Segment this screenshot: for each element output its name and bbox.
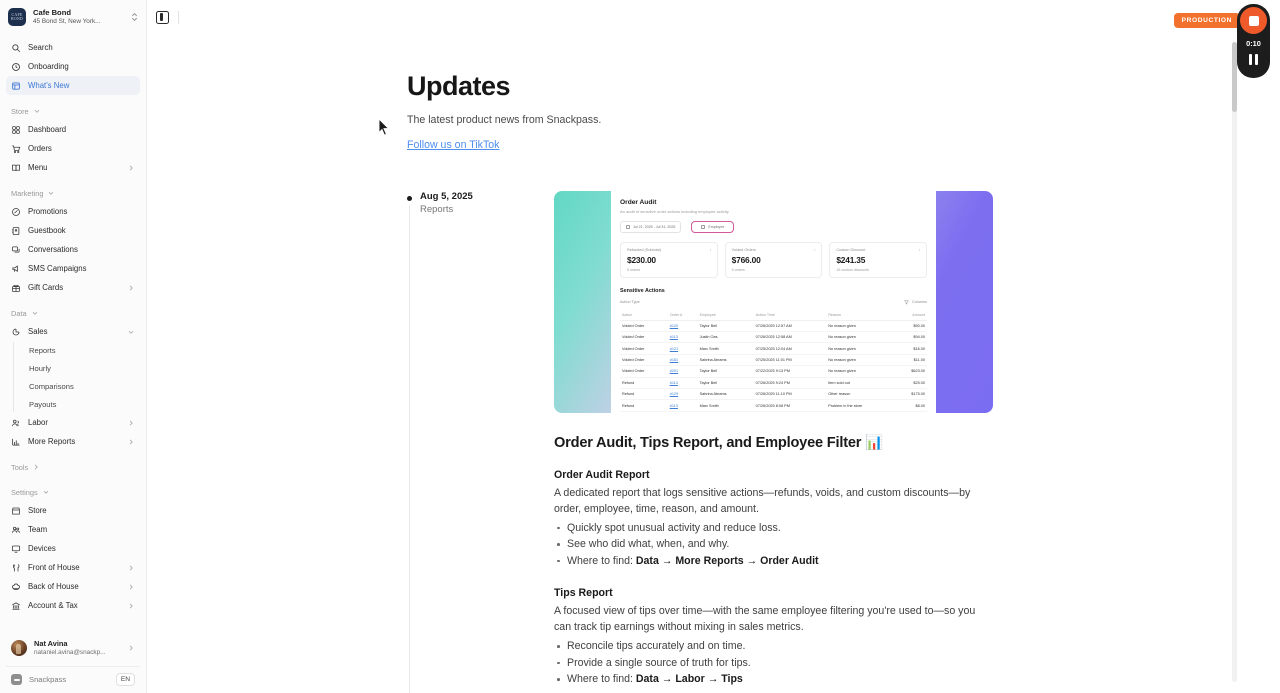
table-cell: Refund xyxy=(620,388,668,399)
store-switcher[interactable]: CAFE BOND Cafe Bond 45 Bond St, New York… xyxy=(0,0,146,34)
store-address: 45 Bond St, New York... xyxy=(33,18,123,26)
stop-record-icon[interactable] xyxy=(1240,7,1267,34)
stat-value: $230.00 xyxy=(627,255,711,265)
brand-row: Snackpass EN xyxy=(6,666,140,686)
list-item: Where to find: Data → Labor → Tips xyxy=(554,671,994,687)
sidebar-item-label: Sales xyxy=(28,327,120,336)
chevron-down-icon xyxy=(47,189,55,197)
table-row: Refund#113Marc Smith07/26/2025 8:08 PMPr… xyxy=(620,400,927,411)
table-cell: $94.00 xyxy=(895,332,927,343)
sidebar-item-label: Orders xyxy=(28,144,135,153)
table-cell: Refund xyxy=(620,377,668,388)
sidebar-item-menu[interactable]: Menu xyxy=(6,158,140,177)
entry-date: Aug 5, 2025 xyxy=(420,191,554,203)
table-cell: Refund xyxy=(620,411,668,413)
table-cell: Other reason xyxy=(826,388,895,399)
sidebar-subitem-label: Payouts xyxy=(29,400,56,409)
stat-card: Voided Orders i $766.00 5 orders xyxy=(725,242,823,278)
sidebar-item-label: Store xyxy=(28,506,135,515)
employee-filter: Employee xyxy=(691,221,734,233)
table-cell: $25.00 xyxy=(895,377,927,388)
table-cell: Voided Order xyxy=(620,354,668,365)
table-cell: Item sold out xyxy=(826,377,895,388)
filter-icon xyxy=(904,300,909,305)
sidebar: CAFE BOND Cafe Bond 45 Bond St, New York… xyxy=(0,0,147,693)
chevron-down-icon xyxy=(42,488,50,496)
section-paragraph: A dedicated report that logs sensitive a… xyxy=(554,485,994,517)
recording-elapsed: 0:10 xyxy=(1246,39,1261,48)
chevron-right-icon xyxy=(127,564,135,572)
section-heading: Order Audit Report xyxy=(554,469,994,481)
sidebar-item-dashboard[interactable]: Dashboard xyxy=(6,120,140,139)
stat-label: Voided Orders xyxy=(732,248,756,252)
sidebar-item-onboarding[interactable]: Onboarding xyxy=(6,57,140,76)
main-area: Updates The latest product news from Sna… xyxy=(147,0,1280,693)
chevron-right-icon xyxy=(127,284,135,292)
sidebar-item-devices[interactable]: Devices xyxy=(6,539,140,558)
chevron-up-down-icon xyxy=(130,11,139,23)
stat-note: 5 orders xyxy=(627,268,711,272)
user-name: Nat Avina xyxy=(34,639,120,649)
section-bullets: Reconcile tips accurately and on time. P… xyxy=(554,638,994,687)
table-cell: Sabrina Abrams xyxy=(698,354,754,365)
bullet-text: Provide a single source of truth for tip… xyxy=(567,657,751,669)
table-cell: Taylor Bell xyxy=(698,320,754,331)
table-row: Voided Order#120Taylor Bell07/26/2025 12… xyxy=(620,320,927,331)
section-bullets: Quickly spot unusual activity and reduce… xyxy=(554,520,994,569)
sidebar-group-marketing[interactable]: Marketing xyxy=(6,184,140,202)
sidebar-item-conversations[interactable]: Conversations xyxy=(6,240,140,259)
sidebar-nav: Search Onboarding What's New Store xyxy=(0,34,146,628)
book-icon xyxy=(11,163,21,173)
sidebar-item-more-reports[interactable]: More Reports xyxy=(6,432,140,451)
table-cell: Voided Order xyxy=(620,343,668,354)
info-icon: i xyxy=(710,248,711,252)
page-title: Updates xyxy=(407,72,1225,102)
bullet-text: Quickly spot unusual activity and reduce… xyxy=(567,522,781,534)
embedded-screenshot: Order Audit An audit of sensitive order … xyxy=(611,191,936,413)
sidebar-group-settings[interactable]: Settings xyxy=(6,483,140,501)
sidebar-item-store-settings[interactable]: Store xyxy=(6,501,140,520)
cutlery-icon xyxy=(11,563,21,573)
chevron-right-icon xyxy=(127,419,135,427)
report-filters: Jul 21, 2025 - Jul 31, 2025 Employee xyxy=(620,221,927,233)
sidebar-subitem-label: Reports xyxy=(29,346,56,355)
sidebar-item-label: Promotions xyxy=(28,207,135,216)
stat-label: Custom Discount xyxy=(836,248,865,252)
sidebar-item-guestbook[interactable]: Guestbook xyxy=(6,221,140,240)
table-cell: #113 xyxy=(668,332,698,343)
bullet-text: Where to find: xyxy=(567,555,636,567)
table-cell: 07/25/2025 11:01 PM xyxy=(754,354,827,365)
table-row: Voided Order#113Justin Oas07/26/2025 12:… xyxy=(620,332,927,343)
table-cell: Voided Order xyxy=(620,332,668,343)
sidebar-item-label: Dashboard xyxy=(28,125,135,134)
info-icon: i xyxy=(815,248,816,252)
table-column-header: Employee xyxy=(698,310,754,321)
stat-note: 15 custom discounts xyxy=(836,268,920,272)
people-icon xyxy=(11,418,21,428)
columns-button-label: Columns xyxy=(912,300,927,304)
table-cell: Sabrina Abrams xyxy=(698,388,754,399)
avatar xyxy=(11,640,27,656)
grid-icon xyxy=(11,125,21,135)
columns-button: Columns xyxy=(904,300,927,305)
sidebar-item-label: Onboarding xyxy=(28,62,135,71)
chevron-right-icon xyxy=(127,164,135,172)
mouse-cursor xyxy=(378,118,391,137)
store-name: Cafe Bond xyxy=(33,8,123,17)
sidebar-group-title: Tools xyxy=(11,463,28,472)
entry-meta: Aug 5, 2025 Reports xyxy=(407,191,554,693)
table-cell: $175.00 xyxy=(895,388,927,399)
article-title: Order Audit, Tips Report, and Employee F… xyxy=(554,433,994,451)
sidebar-item-promotions[interactable]: Promotions xyxy=(6,202,140,221)
bank-icon xyxy=(11,601,21,611)
table-cell: Voided Order xyxy=(620,320,668,331)
table-row: Refund#114Taylor Bell07/26/2025 9:24 PMI… xyxy=(620,377,927,388)
sidebar-item-label: Search xyxy=(28,43,135,52)
list-item: Reconcile tips accurately and on time. xyxy=(554,638,994,654)
sidebar-group-title: Store xyxy=(11,107,29,116)
chevron-right-icon xyxy=(32,463,40,471)
table-cell: Problem in the store xyxy=(826,411,895,413)
sidebar-item-label: Account & Tax xyxy=(28,601,120,610)
chevron-right-icon xyxy=(127,583,135,591)
user-account-row[interactable]: Nat Avina nataniel.avina@snackp... xyxy=(6,634,140,662)
chevron-down-icon xyxy=(31,309,39,317)
table-cell: #120 xyxy=(668,320,698,331)
table-cell: #113 xyxy=(668,400,698,411)
table-row: Voided Order#201Taylor Bell07/22/2025 9:… xyxy=(620,366,927,377)
sidebar-item-search[interactable]: Search xyxy=(6,38,140,57)
language-selector[interactable]: EN xyxy=(116,673,135,686)
table-cell: 07/22/2025 9:13 PM xyxy=(754,366,827,377)
panel-collapse-icon[interactable] xyxy=(156,11,169,24)
table-cell: $21.00 xyxy=(895,411,927,413)
section-paragraph: A focused view of tips over time—with th… xyxy=(554,603,994,635)
table-column-header: Reason xyxy=(826,310,895,321)
snackpass-logo-icon xyxy=(11,674,22,685)
table-column-header: Amount xyxy=(895,310,927,321)
search-icon xyxy=(11,43,21,53)
table-cell: Refund xyxy=(620,400,668,411)
sidebar-item-label: SMS Campaigns xyxy=(28,264,135,273)
table-cell: $11.00 xyxy=(895,354,927,365)
info-icon: i xyxy=(919,248,920,252)
stat-value: $766.00 xyxy=(732,255,816,265)
sidebar-subitem-label: Comparisons xyxy=(29,382,74,391)
person-icon xyxy=(701,225,705,229)
table-cell: No reason given xyxy=(826,354,895,365)
sidebar-item-label: More Reports xyxy=(28,437,120,446)
entry-tag: Reports xyxy=(420,203,554,217)
pause-icon[interactable] xyxy=(1249,54,1258,65)
sidebar-item-sms-campaigns[interactable]: SMS Campaigns xyxy=(6,259,140,278)
sidebar-item-label: Front of House xyxy=(28,563,120,572)
calendar-icon xyxy=(626,225,630,229)
sidebar-item-label: What's New xyxy=(28,81,135,90)
bullet-path: Data → Labor → Tips xyxy=(636,673,743,685)
table-column-header: Action Time xyxy=(754,310,827,321)
tag-icon xyxy=(11,207,21,217)
table-cell: Justin Oas xyxy=(698,411,754,413)
table-cell: Taylor Bell xyxy=(698,366,754,377)
chevron-down-icon xyxy=(33,107,41,115)
stat-label: Refunded (Subtotal) xyxy=(627,248,661,252)
sidebar-item-whats-new[interactable]: What's New xyxy=(6,76,140,95)
gift-icon xyxy=(11,283,21,293)
table-cell: Taylor Bell xyxy=(698,377,754,388)
user-meta: Nat Avina nataniel.avina@snackp... xyxy=(34,639,120,657)
topbar xyxy=(147,0,1280,34)
table-cell: No reason given xyxy=(826,332,895,343)
bullet-text: See who did what, when, and why. xyxy=(567,538,729,550)
sidebar-item-label: Conversations xyxy=(28,245,135,254)
bullet-text: Reconcile tips accurately and on time. xyxy=(567,640,745,652)
table-row: Voided Order#181Sabrina Abrams07/25/2025… xyxy=(620,354,927,365)
stat-card: Custom Discount i $241.35 15 custom disc… xyxy=(829,242,927,278)
table-cell: 07/26/2025 11:10 PM xyxy=(754,388,827,399)
sidebar-item-account-and-tax[interactable]: Account & Tax xyxy=(6,596,140,615)
table-cell: #201 xyxy=(668,366,698,377)
date-range-label: Jul 21, 2025 - Jul 31, 2025 xyxy=(633,225,675,229)
report-title: Order Audit xyxy=(620,199,927,206)
store-logo-text: CAFE BOND xyxy=(8,13,26,21)
bullet-path: Data → More Reports → Order Audit xyxy=(636,555,819,567)
table-cell: #114 xyxy=(668,377,698,388)
speaker-icon xyxy=(11,264,21,274)
table-column-header: Order # xyxy=(668,310,698,321)
table-cell: No reason given xyxy=(826,343,895,354)
sidebar-item-front-of-house[interactable]: Front of House xyxy=(6,558,140,577)
store-logo-icon: CAFE BOND xyxy=(8,8,26,26)
table-column-header: Action xyxy=(620,310,668,321)
sensitive-actions-title: Sensitive Actions xyxy=(620,288,927,294)
entry-body: Order Audit An audit of sensitive order … xyxy=(554,191,994,693)
team-icon xyxy=(11,525,21,535)
store-meta: Cafe Bond 45 Bond St, New York... xyxy=(33,8,123,26)
sidebar-item-label: Devices xyxy=(28,544,135,553)
tiktok-link[interactable]: Follow us on TikTok xyxy=(407,139,499,151)
table-cell: Marc Smith xyxy=(698,400,754,411)
table-cell: 07/26/2025 12:58 AM xyxy=(754,332,827,343)
sidebar-item-sales[interactable]: Sales xyxy=(6,322,140,341)
sidebar-group-store[interactable]: Store xyxy=(6,102,140,120)
brand-name: Snackpass xyxy=(29,675,109,684)
scroll-content: Updates The latest product news from Sna… xyxy=(147,34,1225,693)
sidebar-item-label: Menu xyxy=(28,163,120,172)
table-cell: No reason given xyxy=(826,320,895,331)
sidebar-item-label: Guestbook xyxy=(28,226,135,235)
sensitive-actions-toolbar: Action Type Columns xyxy=(620,300,927,305)
stat-card: Refunded (Subtotal) i $230.00 5 orders xyxy=(620,242,718,278)
table-header-row: ActionOrder #EmployeeAction TimeReasonAm… xyxy=(620,310,927,321)
table-cell: Voided Order xyxy=(620,366,668,377)
chart-ring-icon xyxy=(11,327,21,337)
table-cell: 07/26/2025 7:28 PM xyxy=(754,411,827,413)
sensitive-actions-table: ActionOrder #EmployeeAction TimeReasonAm… xyxy=(620,310,927,413)
sidebar-group-title: Data xyxy=(11,309,27,318)
page-subtitle: The latest product news from Snackpass. xyxy=(407,114,1225,126)
clock-icon xyxy=(11,62,21,72)
sidebar-item-label: Team xyxy=(28,525,135,534)
sidebar-group-title: Settings xyxy=(11,488,38,497)
monitor-icon xyxy=(11,544,21,554)
table-cell: Problem in the store xyxy=(826,400,895,411)
sidebar-subitem-payouts[interactable]: Payouts xyxy=(24,395,140,413)
date-range-filter: Jul 21, 2025 - Jul 31, 2025 xyxy=(620,221,681,233)
table-cell: 07/25/2025 12:04 AM xyxy=(754,343,827,354)
sidebar-subitems-sales: Reports Hourly Comparisons Payouts xyxy=(13,341,140,413)
table-cell: #181 xyxy=(668,354,698,365)
chat-icon xyxy=(11,245,21,255)
table-row: Voided Order#121Marc Smith07/25/2025 12:… xyxy=(620,343,927,354)
user-email: nataniel.avina@snackp... xyxy=(34,649,120,657)
table-cell: $623.00 xyxy=(895,366,927,377)
table-cell: $8.00 xyxy=(895,400,927,411)
sidebar-item-labor[interactable]: Labor xyxy=(6,413,140,432)
contact-book-icon xyxy=(11,226,21,236)
employee-filter-label: Employee xyxy=(708,225,724,229)
list-item: Where to find: Data → More Reports → Ord… xyxy=(554,553,994,569)
chevron-right-icon xyxy=(127,438,135,446)
sidebar-subitem-reports[interactable]: Reports xyxy=(24,341,140,359)
sidebar-group-tools[interactable]: Tools xyxy=(6,458,140,476)
chef-hat-icon xyxy=(11,582,21,592)
chevron-down-icon xyxy=(127,328,135,336)
report-subtitle: An audit of sensitive order actions incl… xyxy=(620,209,927,214)
scrollbar-track[interactable] xyxy=(1232,42,1237,682)
storefront-icon xyxy=(11,506,21,516)
app-root: CAFE BOND Cafe Bond 45 Bond St, New York… xyxy=(0,0,1280,693)
table-cell: 07/26/2025 12:57 AM xyxy=(754,320,827,331)
sidebar-subitem-comparisons[interactable]: Comparisons xyxy=(24,377,140,395)
list-item: Provide a single source of truth for tip… xyxy=(554,655,994,671)
sidebar-item-orders[interactable]: Orders xyxy=(6,139,140,158)
hero-image: Order Audit An audit of sensitive order … xyxy=(554,191,993,413)
table-row: Refund#129Sabrina Abrams07/26/2025 11:10… xyxy=(620,388,927,399)
sidebar-group-data[interactable]: Data xyxy=(6,304,140,322)
stat-value: $241.35 xyxy=(836,255,920,265)
table-cell: 07/26/2025 8:08 PM xyxy=(754,400,827,411)
topbar-divider xyxy=(178,11,179,24)
table-cell: #114 xyxy=(668,411,698,413)
chevron-right-icon xyxy=(127,644,135,652)
sidebar-item-gift-cards[interactable]: Gift Cards xyxy=(6,278,140,297)
table-cell: Justin Oas xyxy=(698,332,754,343)
table-cell: #129 xyxy=(668,388,698,399)
sidebar-group-title: Marketing xyxy=(11,189,43,198)
table-cell: $50.00 xyxy=(895,320,927,331)
megaphone-icon xyxy=(11,81,21,91)
sidebar-subitem-label: Hourly xyxy=(29,364,51,373)
sidebar-item-label: Back of House xyxy=(28,582,120,591)
table-cell: 07/26/2025 9:24 PM xyxy=(754,377,827,388)
sidebar-item-label: Labor xyxy=(28,418,120,427)
table-row: Refund#114Justin Oas07/26/2025 7:28 PMPr… xyxy=(620,411,927,413)
screen-recorder-widget: 0:10 xyxy=(1237,4,1270,78)
table-cell: $16.00 xyxy=(895,343,927,354)
list-item: See who did what, when, and why. xyxy=(554,536,994,552)
sidebar-item-back-of-house[interactable]: Back of House xyxy=(6,577,140,596)
sidebar-footer: Nat Avina nataniel.avina@snackp... Snack… xyxy=(0,628,146,693)
action-type-filter-label: Action Type xyxy=(620,300,640,304)
chevron-right-icon xyxy=(127,602,135,610)
list-item: Quickly spot unusual activity and reduce… xyxy=(554,520,994,536)
section-heading: Tips Report xyxy=(554,587,994,599)
table-cell: Marc Smith xyxy=(698,343,754,354)
cart-icon xyxy=(11,144,21,154)
bullet-text: Where to find: xyxy=(567,673,636,685)
sidebar-subitem-hourly[interactable]: Hourly xyxy=(24,359,140,377)
bar-chart-icon xyxy=(11,437,21,447)
sidebar-item-label: Gift Cards xyxy=(28,283,120,292)
stat-note: 5 orders xyxy=(732,268,816,272)
stat-cards: Refunded (Subtotal) i $230.00 5 orders xyxy=(620,242,927,278)
table-cell: No reason given xyxy=(826,366,895,377)
sidebar-item-team[interactable]: Team xyxy=(6,520,140,539)
table-cell: #121 xyxy=(668,343,698,354)
update-entry: Aug 5, 2025 Reports Order Audit An audit… xyxy=(407,191,1225,693)
environment-badge: PRODUCTION xyxy=(1174,13,1240,28)
